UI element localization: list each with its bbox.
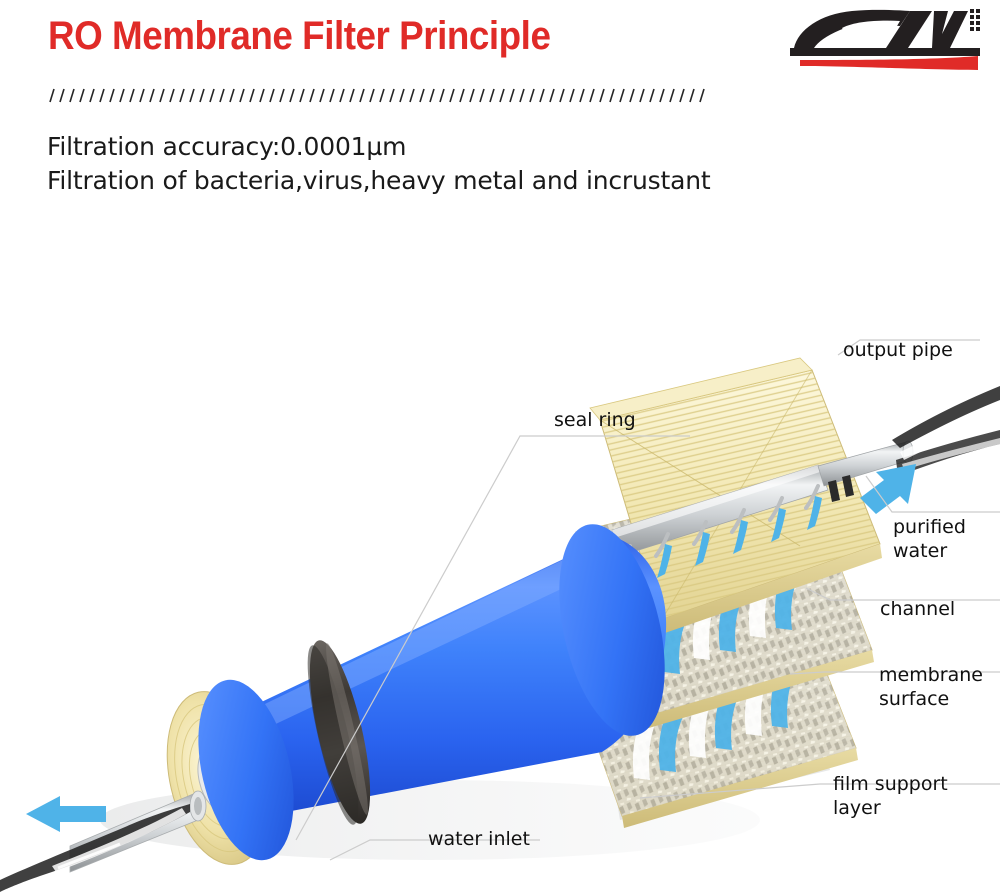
brand-logo-icon <box>782 4 992 74</box>
inlet-flow-arrow <box>26 796 106 832</box>
callout-film-support-layer: film support layer <box>833 772 948 820</box>
ro-membrane-infographic: RO Membrane Filter Principle <box>0 0 1000 896</box>
callout-purified-water: purified water <box>893 515 966 563</box>
callout-membrane-surface: membrane surface <box>879 663 983 711</box>
spec-line-accuracy: Filtration accuracy:0.0001µm <box>47 130 927 164</box>
page-title: RO Membrane Filter Principle <box>48 14 550 59</box>
spec-text-block: Filtration accuracy:0.0001µm Filtration … <box>47 130 927 198</box>
spec-line-filtration: Filtration of bacteria,virus,heavy metal… <box>47 164 927 198</box>
callout-water-inlet: water inlet <box>428 827 530 851</box>
callout-channel: channel <box>880 597 955 621</box>
callout-output-pipe: output pipe <box>843 338 953 362</box>
purified-water-stream <box>892 386 1000 476</box>
callout-seal-ring: seal ring <box>554 408 636 432</box>
hatched-rule-icon <box>48 86 708 106</box>
